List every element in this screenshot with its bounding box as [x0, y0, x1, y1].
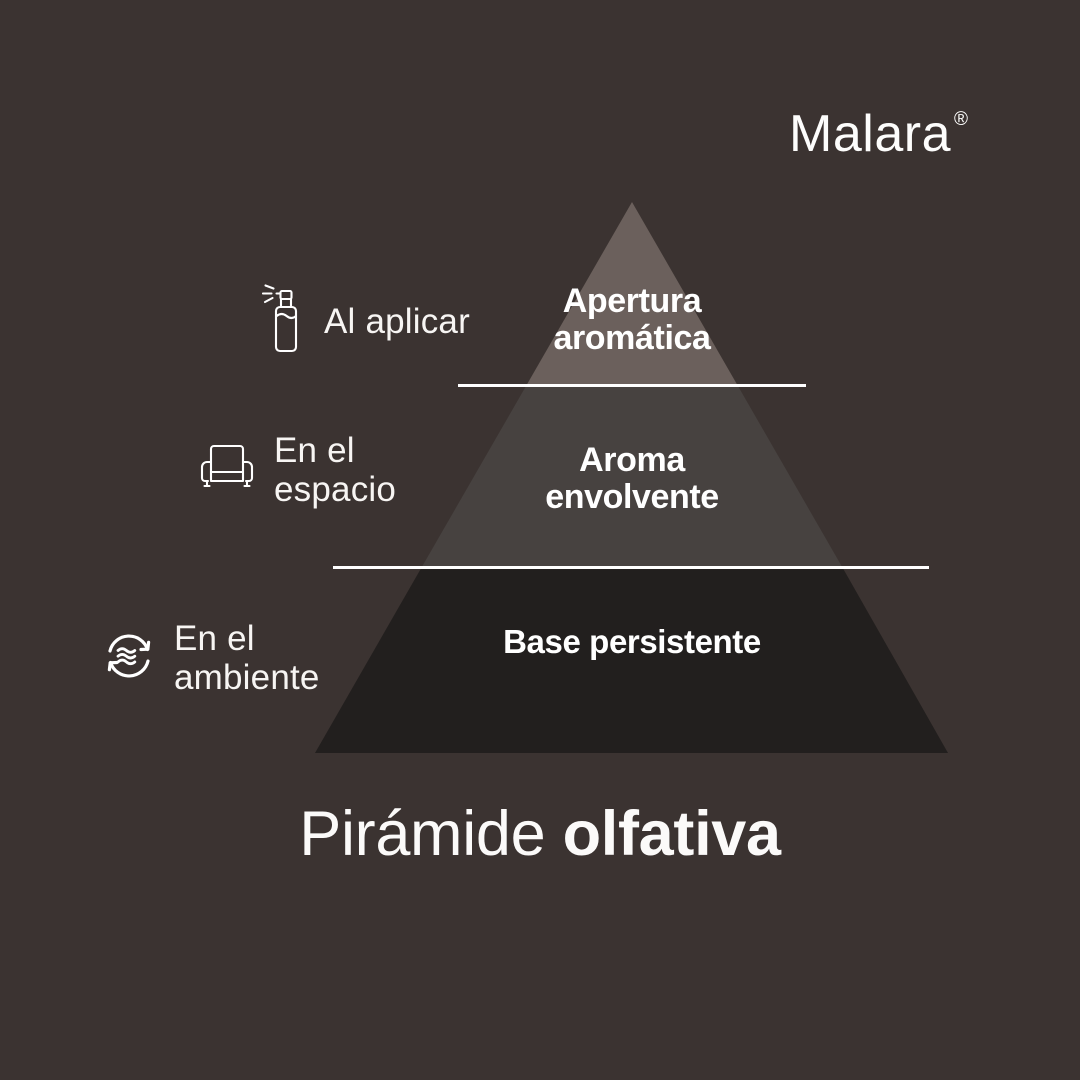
tier-divider-top	[458, 384, 806, 387]
pyramid-graphic	[0, 0, 1080, 1080]
tier-label-apertura-aromatica: Apertura aromática	[432, 283, 832, 356]
stage-label-en-el-espacio: En el espacio	[274, 431, 396, 509]
stage-row-en-el-ambiente: En el ambiente	[102, 619, 320, 697]
spray-bottle-icon	[262, 283, 306, 360]
tier-divider-bottom	[333, 566, 929, 569]
page-title: Pirámide olfativa	[0, 800, 1080, 869]
page-title-light: Pirámide	[299, 799, 562, 869]
pyramid-svg	[0, 0, 1080, 1080]
tier-label-base-persistente: Base persistente	[382, 624, 882, 660]
stage-row-en-el-espacio: En el espacio	[198, 431, 396, 509]
tier-label-aroma-envolvente: Aroma envolvente	[432, 442, 832, 515]
stage-label-al-aplicar: Al aplicar	[324, 302, 470, 341]
stage-label-en-el-ambiente: En el ambiente	[174, 619, 320, 697]
poster-canvas: Malara ® Apertura aromática Aroma envolv…	[0, 0, 1080, 1080]
stage-row-al-aplicar: Al aplicar	[262, 283, 470, 360]
air-circulation-icon	[102, 629, 156, 688]
armchair-icon	[198, 440, 256, 501]
page-title-bold: olfativa	[563, 799, 781, 869]
